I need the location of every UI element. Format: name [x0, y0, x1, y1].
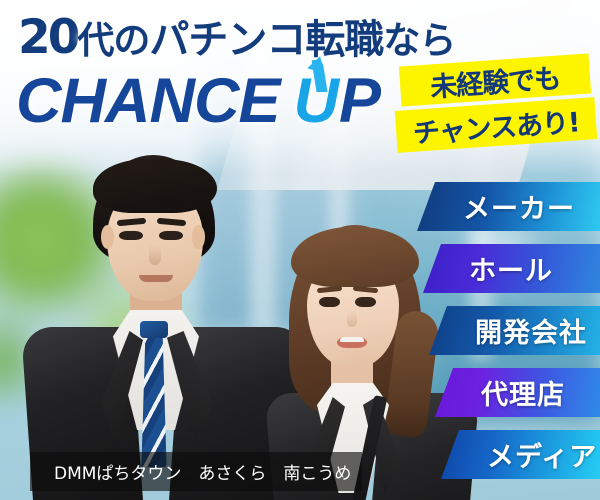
- logo-letter-p: P: [339, 66, 381, 136]
- category-label: メーカー: [463, 187, 575, 226]
- credit-bar: DMMぱちタウン あさくら 南こうめ: [30, 452, 362, 491]
- logo-chance-up: CHANCEUP: [16, 65, 381, 137]
- credit-text: DMMぱちタウン あさくら 南こうめ: [54, 459, 351, 484]
- category-button-agency[interactable]: 代理店: [435, 368, 600, 417]
- man-eye-right: [159, 231, 183, 240]
- logo-up-group: UP: [294, 65, 382, 137]
- recruitment-banner: 20代のパチンコ転職なら CHANCEUP 未経験でも チャンスあり! メーカー…: [0, 0, 600, 500]
- headline-number: 20: [18, 10, 77, 65]
- man-eye-left: [119, 231, 143, 240]
- headline-suffix: なら: [383, 19, 455, 62]
- category-button-hall[interactable]: ホール: [423, 244, 600, 293]
- category-label: ホール: [469, 249, 553, 288]
- woman-bangs: [291, 227, 419, 287]
- category-button-media[interactable]: メディア: [441, 430, 600, 479]
- headline-part1: 代の: [77, 19, 149, 62]
- category-button-maker[interactable]: メーカー: [417, 182, 600, 231]
- headline-part2: パチンコ: [149, 17, 305, 63]
- man-nose: [149, 245, 161, 265]
- logo-word-chance: CHANCE: [16, 66, 280, 136]
- man-necktie-knot: [140, 321, 168, 338]
- category-button-developer[interactable]: 開発会社: [429, 306, 600, 355]
- woman-nose: [347, 311, 357, 327]
- man-mouth: [139, 275, 173, 282]
- woman-eye-left: [319, 297, 340, 307]
- headline-text: 20代のパチンコ転職なら: [18, 14, 455, 61]
- man-fringe: [93, 159, 217, 213]
- man-ear-left: [101, 225, 114, 249]
- category-label: 開発会社: [475, 311, 587, 350]
- woman-eye-right: [355, 297, 376, 307]
- woman-teeth: [340, 337, 364, 342]
- badge-label: 未経験でも: [429, 56, 561, 104]
- man-ear-right: [192, 225, 205, 249]
- category-label: 代理店: [481, 373, 565, 412]
- category-label: メディア: [487, 435, 597, 474]
